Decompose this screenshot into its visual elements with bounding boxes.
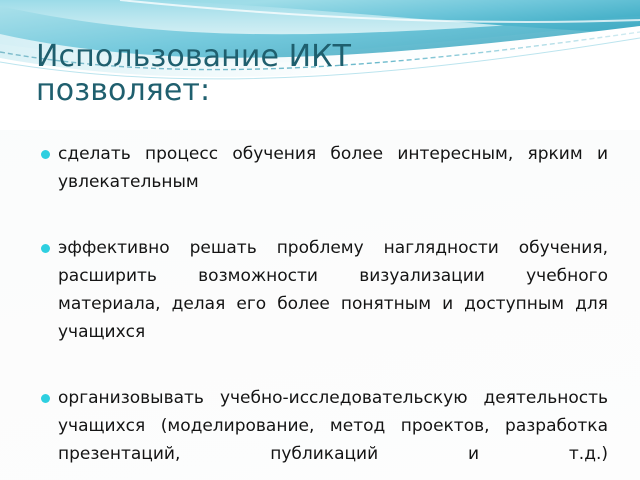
slide-title: Использование ИКТ позволяет: xyxy=(36,40,466,108)
title-line-2: позволяет: xyxy=(36,74,466,108)
round-bullet-icon xyxy=(41,150,50,159)
round-bullet-icon xyxy=(41,244,50,253)
round-bullet-icon xyxy=(41,394,50,403)
list-item: организовывать учебно-исследовательскую … xyxy=(36,384,608,480)
presentation-slide: Использование ИКТ позволяет: сделать про… xyxy=(0,0,640,480)
title-line-1: Использование ИКТ xyxy=(36,40,466,74)
list-item: эффективно решать проблему наглядности о… xyxy=(36,234,608,374)
list-item-text: сделать процесс обучения более интересны… xyxy=(58,140,608,224)
list-item-text: организовывать учебно-исследовательскую … xyxy=(58,384,608,480)
slide-bullet-list: сделать процесс обучения более интересны… xyxy=(36,140,608,480)
list-item: сделать процесс обучения более интересны… xyxy=(36,140,608,224)
list-item-text: эффективно решать проблему наглядности о… xyxy=(58,234,608,374)
